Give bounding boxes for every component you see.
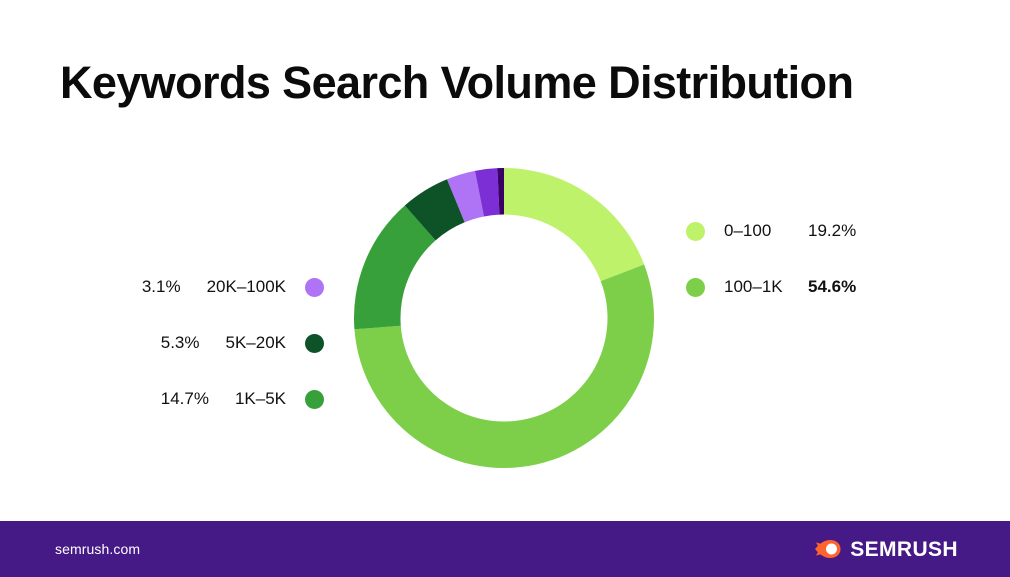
legend-swatch-1k-5k xyxy=(305,390,324,409)
legend-label-100-1k: 100–1K xyxy=(724,277,808,297)
legend-label-20k-100k: 20K–100K xyxy=(207,277,286,297)
legend-right: 0–100 19.2% 100–1K 54.6% xyxy=(686,218,856,330)
legend-percent-1k-5k: 14.7% xyxy=(161,389,209,409)
legend-percent-20k-100k: 3.1% xyxy=(142,277,181,297)
legend-left: 3.1% 20K–100K 5.3% 5K–20K 14.7% 1K–5K xyxy=(128,274,324,442)
donut-slice-group xyxy=(354,168,654,468)
page-title: Keywords Search Volume Distribution xyxy=(60,54,960,112)
legend-item-1k-5k[interactable]: 14.7% 1K–5K xyxy=(128,386,324,412)
semrush-logo: SEMRUSH xyxy=(815,538,958,560)
legend-item-20k-100k[interactable]: 3.1% 20K–100K xyxy=(128,274,324,300)
donut-chart-svg xyxy=(354,168,654,468)
legend-swatch-20k-100k xyxy=(305,278,324,297)
infographic-canvas: Keywords Search Volume Distribution 0–10… xyxy=(0,0,1010,577)
legend-percent-100-1k: 54.6% xyxy=(808,277,856,297)
legend-item-0-100[interactable]: 0–100 19.2% xyxy=(686,218,856,244)
semrush-wordmark: SEMRUSH xyxy=(850,539,958,560)
semrush-comet-icon xyxy=(815,538,841,560)
legend-item-5k-20k[interactable]: 5.3% 5K–20K xyxy=(128,330,324,356)
legend-percent-5k-20k: 5.3% xyxy=(161,333,200,353)
legend-label-0-100: 0–100 xyxy=(724,221,808,241)
footer-website-url[interactable]: semrush.com xyxy=(55,541,140,557)
legend-swatch-0-100 xyxy=(686,222,705,241)
donut-chart xyxy=(354,168,654,468)
chart-area: 0–100 19.2% 100–1K 54.6% 3.1% 20K–100K 5… xyxy=(0,140,1010,510)
legend-percent-0-100: 19.2% xyxy=(808,221,856,241)
legend-swatch-100-1k xyxy=(686,278,705,297)
legend-swatch-5k-20k xyxy=(305,334,324,353)
donut-slice-0-100[interactable] xyxy=(504,168,644,281)
legend-label-1k-5k: 1K–5K xyxy=(235,389,286,409)
legend-label-5k-20k: 5K–20K xyxy=(226,333,287,353)
legend-item-100-1k[interactable]: 100–1K 54.6% xyxy=(686,274,856,300)
footer-bar: semrush.com SEMRUSH xyxy=(0,521,1010,577)
